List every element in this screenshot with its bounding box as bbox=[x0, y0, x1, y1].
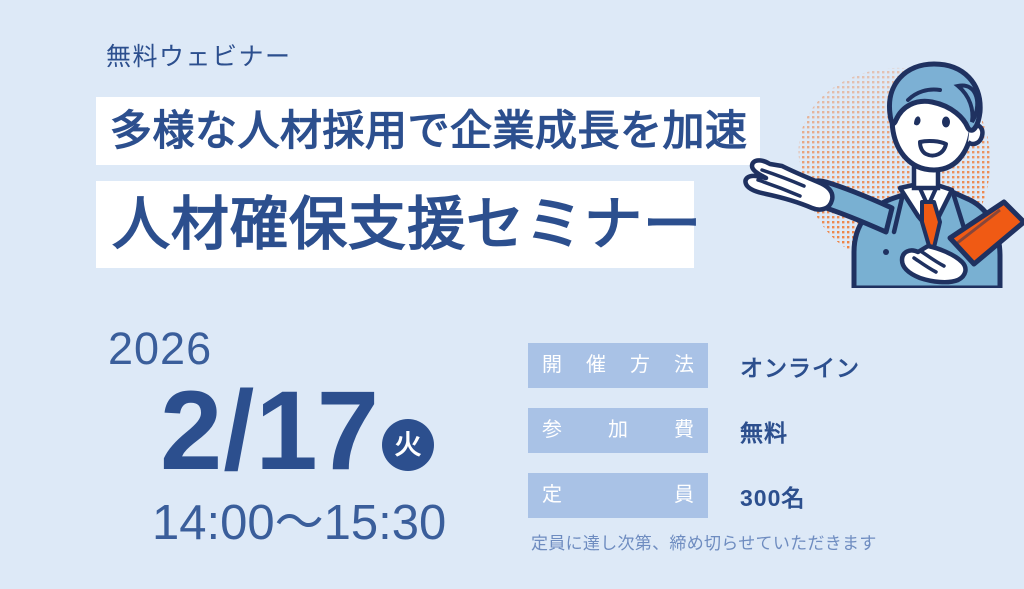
title-line1: 多様な人材採用で企業成長を加速 bbox=[96, 110, 748, 152]
info-label-fee-text: 参加費 bbox=[542, 408, 694, 453]
date-separator: / bbox=[221, 375, 255, 487]
right-eye bbox=[942, 117, 950, 128]
info-row: 定員 300名 bbox=[528, 473, 860, 518]
weekday-badge: 火 bbox=[382, 419, 434, 471]
info-row: 参加費 無料 bbox=[528, 408, 860, 453]
capacity-note: 定員に達し次第、締め切らせていただきます bbox=[531, 529, 877, 554]
title-band-secondary: 人材確保支援セミナー bbox=[96, 181, 694, 268]
info-label-fee: 参加費 bbox=[528, 408, 708, 453]
event-time: 14:00〜15:30 bbox=[152, 499, 446, 548]
event-date: 2 / 17 火 bbox=[160, 375, 434, 487]
info-label-method-text: 開催方法 bbox=[542, 343, 694, 388]
eyebrow-label: 無料ウェビナー bbox=[106, 44, 292, 72]
title-line2: 人材確保支援セミナー bbox=[96, 196, 702, 254]
info-row: 開催方法 オンライン bbox=[528, 343, 860, 388]
businessman-presenting-illustration bbox=[742, 56, 1024, 288]
title-band-primary: 多様な人材採用で企業成長を加速 bbox=[96, 97, 760, 165]
info-label-method: 開催方法 bbox=[528, 343, 708, 388]
event-month: 2 bbox=[160, 375, 221, 487]
event-day: 17 bbox=[255, 375, 378, 487]
info-value-method: オンライン bbox=[740, 349, 860, 383]
info-value-fee: 無料 bbox=[740, 414, 788, 448]
info-label-capacity-text: 定員 bbox=[542, 473, 694, 518]
info-label-capacity: 定員 bbox=[528, 473, 708, 518]
info-value-capacity: 300名 bbox=[740, 479, 805, 513]
event-year: 2026 bbox=[108, 326, 212, 371]
webinar-poster: 無料ウェビナー 多様な人材採用で企業成長を加速 人材確保支援セミナー bbox=[0, 0, 1024, 589]
event-info-table: 開催方法 オンライン 参加費 無料 定員 300名 bbox=[528, 343, 860, 538]
mouth bbox=[920, 141, 946, 156]
